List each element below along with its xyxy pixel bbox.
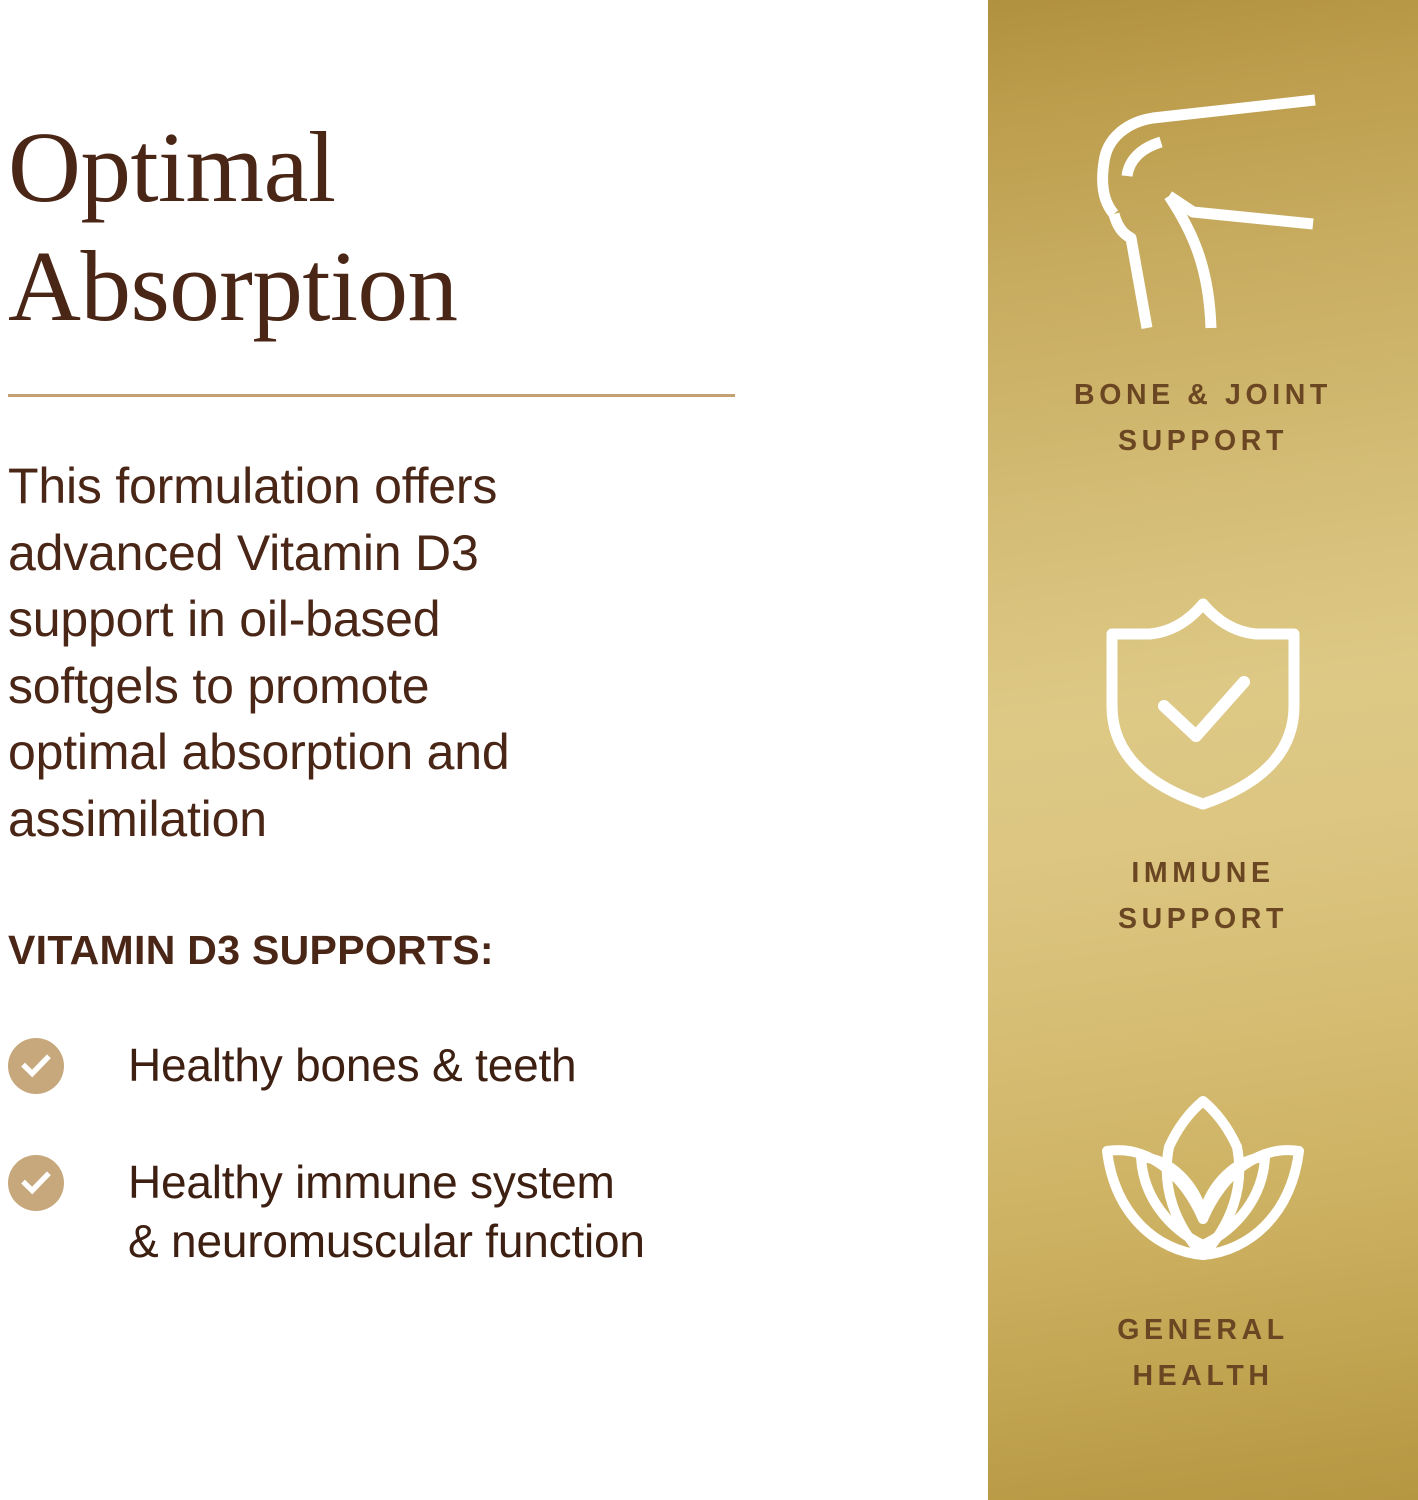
knee-joint-icon: [1087, 84, 1319, 332]
feature-label-line: HEALTH: [1003, 1353, 1403, 1399]
feature-label: GENERAL HEALTH: [1003, 1307, 1403, 1399]
body-line: advanced Vitamin D3: [8, 520, 668, 587]
body-line: optimal absorption and: [8, 719, 668, 786]
check-circle-icon: [8, 1155, 64, 1211]
feature-label-line: IMMUNE: [1003, 850, 1403, 896]
feature-immune: IMMUNE SUPPORT: [988, 594, 1418, 942]
feature-label-line: SUPPORT: [1003, 896, 1403, 942]
page-title: Optimal Absorption: [8, 108, 768, 346]
supports-heading: VITAMIN D3 SUPPORTS:: [8, 927, 988, 974]
body-line: support in oil-based: [8, 586, 668, 653]
feature-label: BONE & JOINT SUPPORT: [1003, 372, 1403, 464]
list-item-line: Healthy bones & teeth: [128, 1036, 576, 1095]
feature-label: IMMUNE SUPPORT: [1003, 850, 1403, 942]
check-circle-icon: [8, 1038, 64, 1094]
list-item-label: Healthy bones & teeth: [128, 1032, 576, 1095]
feature-bone-joint: BONE & JOINT SUPPORT: [988, 84, 1418, 464]
left-content-column: Optimal Absorption This formulation offe…: [0, 0, 988, 1500]
benefits-gold-panel: BONE & JOINT SUPPORT IMMUNE SUPPORT: [988, 0, 1418, 1500]
list-item: Healthy immune system & neuromuscular fu…: [8, 1149, 988, 1271]
feature-general-health: GENERAL HEALTH: [988, 1095, 1418, 1399]
list-item: Healthy bones & teeth: [8, 1032, 988, 1095]
lotus-flower-icon: [1091, 1095, 1315, 1267]
body-line: This formulation offers: [8, 453, 668, 520]
feature-label-line: SUPPORT: [1003, 418, 1403, 464]
page-title-line-1: Optimal: [8, 108, 768, 227]
shield-check-icon: [1098, 594, 1308, 810]
product-feature-panel: Optimal Absorption This formulation offe…: [0, 0, 1418, 1500]
list-item-line: & neuromuscular function: [128, 1212, 645, 1271]
benefits-list: Healthy bones & teeth Healthy immune sys…: [8, 1032, 988, 1271]
feature-label-line: GENERAL: [1003, 1307, 1403, 1353]
body-line: softgels to promote: [8, 653, 668, 720]
feature-label-line: BONE & JOINT: [1003, 372, 1403, 418]
divider: [8, 394, 735, 397]
list-item-line: Healthy immune system: [128, 1153, 645, 1212]
body-paragraph: This formulation offers advanced Vitamin…: [8, 453, 668, 852]
body-line: assimilation: [8, 786, 668, 853]
list-item-label: Healthy immune system & neuromuscular fu…: [128, 1149, 645, 1271]
page-title-line-2: Absorption: [8, 227, 768, 346]
